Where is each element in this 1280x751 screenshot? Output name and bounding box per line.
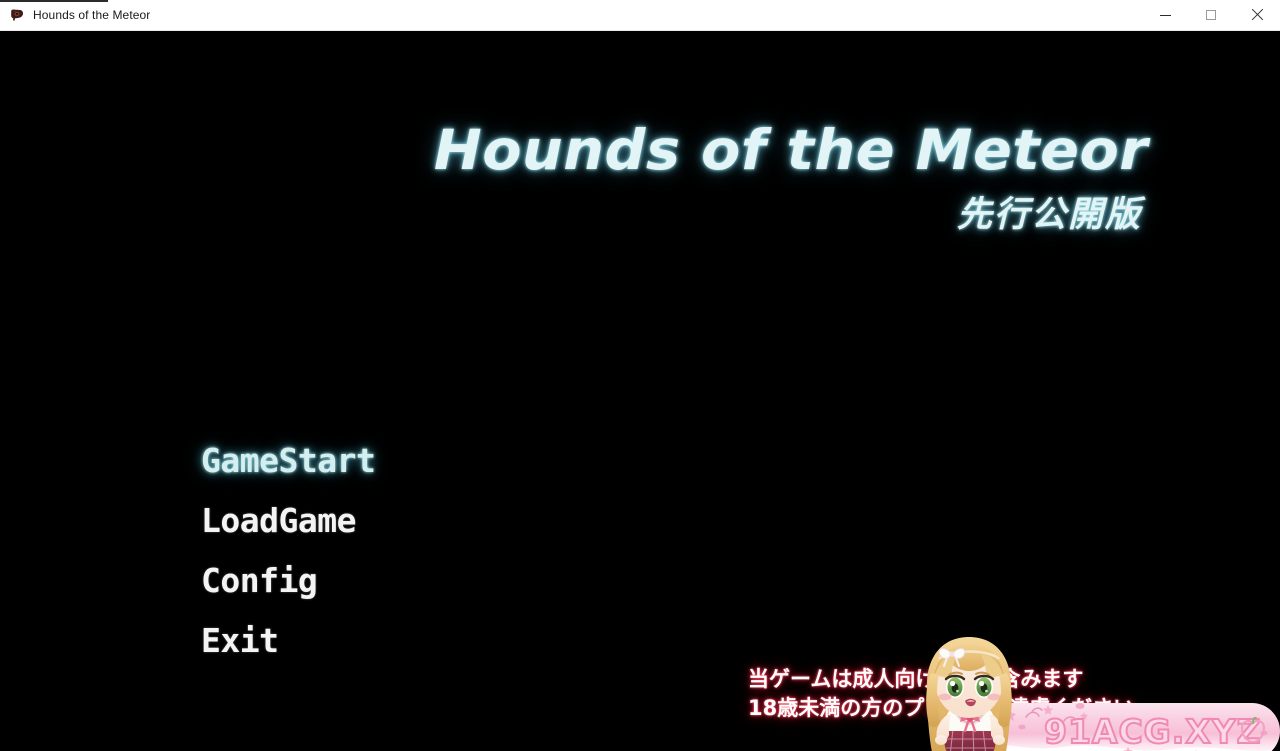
game-logo: Hounds of the Meteor 先行公開版 (0, 123, 1148, 233)
maximize-button[interactable] (1188, 0, 1234, 31)
window-controls (1142, 0, 1280, 31)
age-warning-line-1: 当ゲームは成人向け表現を含みます (748, 665, 1168, 694)
menu-item-game-start[interactable]: GameStart (201, 431, 375, 491)
window-title-text: Hounds of the Meteor (33, 8, 150, 22)
close-icon (1251, 9, 1263, 21)
minimize-icon (1160, 15, 1171, 16)
game-logo-subtitle: 先行公開版 (0, 198, 1142, 233)
minimize-button[interactable] (1142, 0, 1188, 31)
close-button[interactable] (1234, 0, 1280, 31)
game-title-screen: Hounds of the Meteor 先行公開版 GameStart Loa… (0, 31, 1280, 751)
watermark-text: 91ACG.XYZ (1044, 712, 1262, 751)
window-title-bar[interactable]: Hounds of the Meteor (0, 0, 1280, 31)
menu-item-load-game[interactable]: LoadGame (201, 491, 375, 551)
maximize-icon (1206, 10, 1216, 20)
main-menu: GameStart LoadGame Config Exit (201, 431, 375, 671)
application-window: Hounds of the Meteor Hounds of the Meteo… (0, 0, 1280, 751)
menu-item-config[interactable]: Config (201, 551, 375, 611)
watermark-banner: 91ACG.XYZ (952, 703, 1280, 751)
app-icon (9, 7, 25, 23)
title-bar-accent-line (0, 0, 108, 2)
menu-item-exit[interactable]: Exit (201, 611, 375, 671)
game-logo-title: Hounds of the Meteor (0, 123, 1148, 178)
